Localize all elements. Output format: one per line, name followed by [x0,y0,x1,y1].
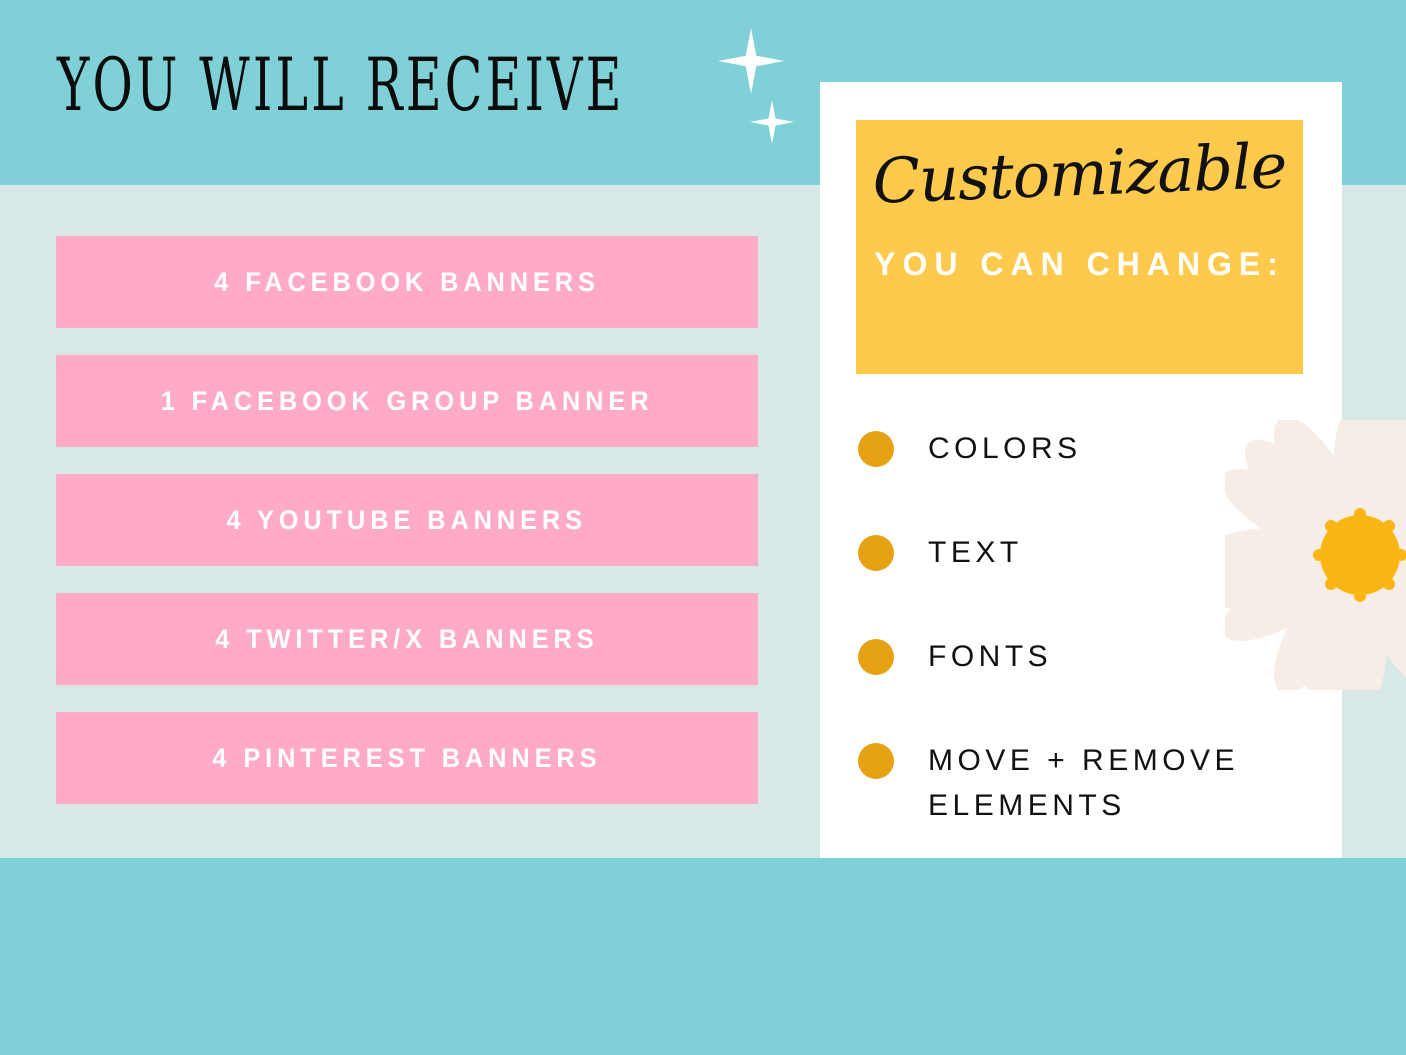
deliverable-label: 4 FACEBOOK BANNERS [214,267,600,298]
change-item-label: FONTS [928,634,1052,679]
deliverable-label: 4 TWITTER/X BANNERS [215,624,598,655]
list-item: 4 TWITTER/X BANNERS [56,593,758,685]
customization-panel: Customizable YOU CAN CHANGE: COLORS TEXT… [820,82,1342,858]
sparkle-small-icon [750,100,794,144]
bullet-dot-icon [858,639,894,675]
deliverable-label: 4 PINTEREST BANNERS [212,743,601,774]
change-list: COLORS TEXT FONTS MOVE + REMOVE ELEMENTS [858,426,1328,887]
deliverable-label: 1 FACEBOOK GROUP BANNER [161,386,654,417]
you-can-change-heading: YOU CAN CHANGE: [856,240,1303,288]
list-item: COLORS [858,426,1328,471]
list-item: 4 YOUTUBE BANNERS [56,474,758,566]
deliverable-label: 4 YOUTUBE BANNERS [227,505,587,536]
list-item: 4 PINTEREST BANNERS [56,712,758,804]
bullet-dot-icon [858,535,894,571]
bullet-dot-icon [858,431,894,467]
customizable-callout: Customizable YOU CAN CHANGE: [856,120,1303,374]
page-title: YOU WILL RECEIVE [57,44,625,128]
list-item: FONTS [858,634,1328,679]
graphic-canvas: YOU WILL RECEIVE 4 FACEBOOK BANNERS 1 FA… [0,0,1406,1055]
change-item-label: TEXT [928,530,1023,575]
customizable-script-title: Customizable [855,129,1304,218]
list-item: 1 FACEBOOK GROUP BANNER [56,355,758,447]
change-item-label: MOVE + REMOVE ELEMENTS [928,738,1239,828]
footer-band: Design Pixie LOGO NOT INCLUDED PURCHASE … [0,858,1406,1055]
sparkle-large-icon [718,28,784,94]
bullet-dot-icon [858,743,894,779]
list-item: 4 FACEBOOK BANNERS [56,236,758,328]
list-item: TEXT [858,530,1328,575]
change-item-label: COLORS [928,426,1082,471]
deliverables-list: 4 FACEBOOK BANNERS 1 FACEBOOK GROUP BANN… [56,236,758,831]
list-item: MOVE + REMOVE ELEMENTS [858,738,1328,828]
